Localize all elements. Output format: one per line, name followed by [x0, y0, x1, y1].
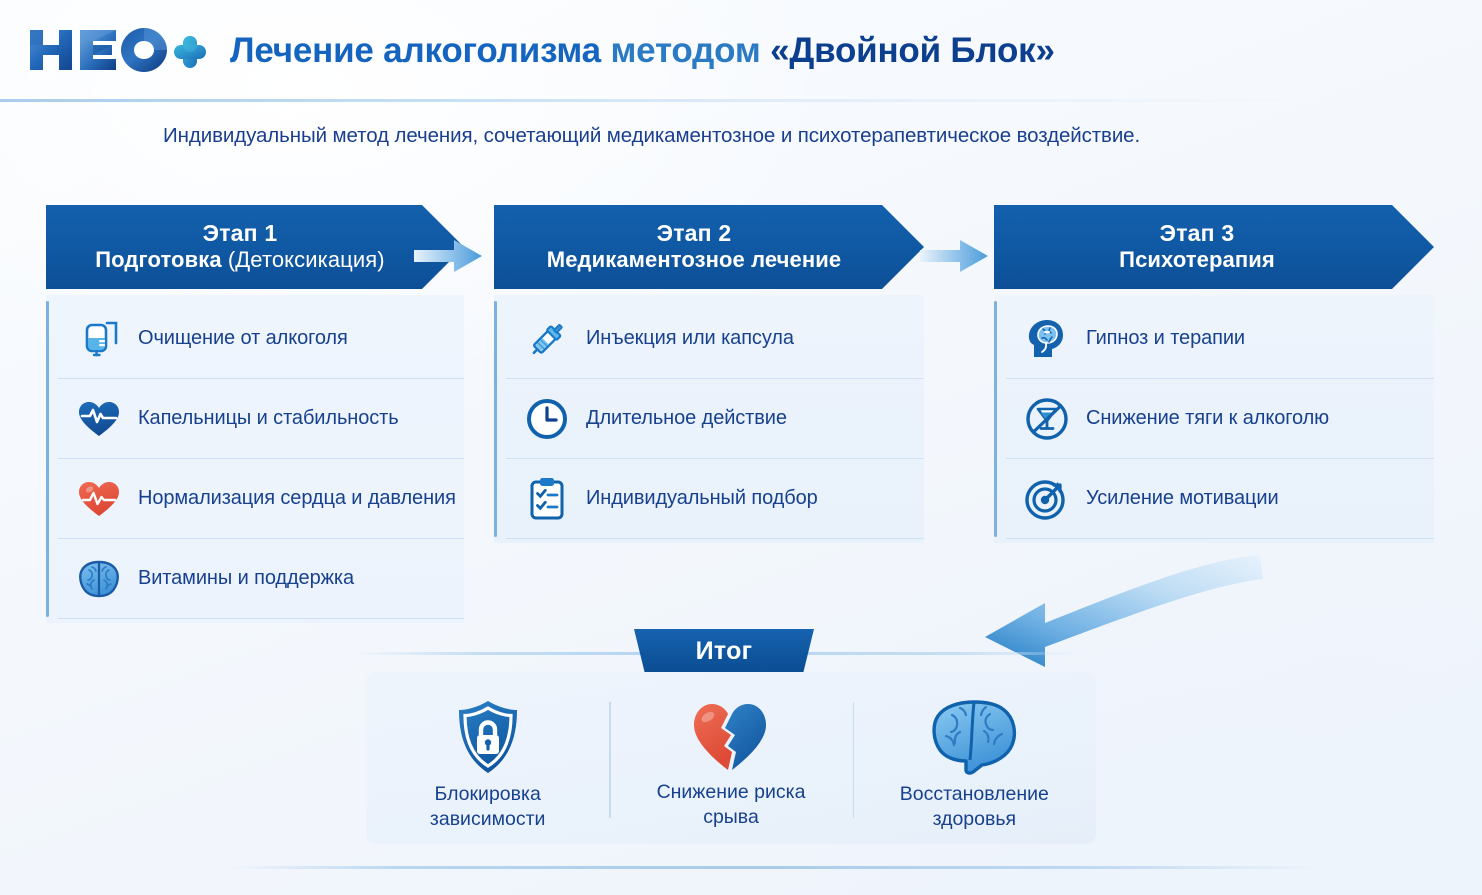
brain-icon — [76, 556, 122, 602]
arrow-right-icon — [920, 234, 992, 278]
stage-items-2: Инъекция или капсула Длительное действие — [494, 295, 924, 543]
list-item-label: Очищение от алкоголя — [138, 327, 348, 350]
list-item[interactable]: Усиление мотивации — [1006, 459, 1434, 539]
result-column-2[interactable]: Снижение риска срыва — [609, 694, 852, 822]
brain-recovery-icon — [924, 698, 1024, 776]
curved-arrow-left-icon — [975, 545, 1265, 675]
list-item[interactable]: Капельницы и стабильность — [58, 379, 464, 459]
list-item-label: Капельницы и стабильность — [138, 407, 399, 430]
list-item[interactable]: Индивидуальный подбор — [506, 459, 924, 539]
stage-card-3: Этап 3 Психотерапия — [994, 205, 1434, 543]
stage-header-2: Этап 2 Медикаментозное лечение — [494, 205, 924, 289]
list-item-label: Снижение тяги к алкоголю — [1086, 407, 1329, 430]
clipboard-checklist-icon — [524, 476, 570, 522]
stage-label-2: Этап 2 — [657, 221, 732, 247]
heart-pulse-red-icon — [76, 476, 122, 522]
result-label-2: Снижение риска срыва — [657, 780, 806, 830]
shield-lock-icon — [451, 698, 525, 776]
stage-name-1: Подготовка (Детоксикация) — [95, 247, 384, 273]
footer-divider — [228, 866, 1318, 869]
result-label-3: Восстановление здоровья — [900, 782, 1049, 832]
stage-name-bold-2: Медикаментозное лечение — [547, 247, 841, 272]
stage-items-3: Гипноз и терапии Снижение тяги к — [994, 295, 1434, 543]
list-item[interactable]: Инъекция или капсула — [506, 299, 924, 379]
list-item[interactable]: Витамины и поддержка — [58, 539, 464, 619]
stage-name-bold-3: Психотерапия — [1119, 247, 1275, 272]
stage-name-bold-1: Подготовка — [95, 247, 221, 272]
arrow-right-icon — [414, 234, 486, 278]
list-item[interactable]: Очищение от алкоголя — [58, 299, 464, 379]
stage-name-3: Психотерапия — [1119, 247, 1275, 273]
stage-header-3: Этап 3 Психотерапия — [994, 205, 1434, 289]
list-item[interactable]: Снижение тяги к алкоголю — [1006, 379, 1434, 459]
stage-label-1: Этап 1 — [203, 221, 278, 247]
list-item[interactable]: Нормализация сердца и давления — [58, 459, 464, 539]
broken-heart-icon — [688, 698, 774, 774]
target-arrow-icon — [1024, 476, 1070, 522]
list-item-label: Длительное действие — [586, 407, 787, 430]
clock-icon — [524, 396, 570, 442]
list-item-label: Индивидуальный подбор — [586, 487, 818, 510]
no-alcohol-glass-icon — [1024, 396, 1070, 442]
stage-items-1: Очищение от алкоголя Капельницы и стабил… — [46, 295, 464, 623]
result-label-1: Блокировка зависимости — [430, 782, 546, 832]
stage-name-light-1: (Детоксикация) — [228, 247, 385, 272]
stage-card-2: Этап 2 Медикаментозное лечение — [494, 205, 924, 543]
result-banner: Итог — [634, 629, 814, 673]
heart-pulse-blue-icon — [76, 396, 122, 442]
head-brain-icon — [1024, 316, 1070, 362]
result-card: Блокировка зависимости — [366, 672, 1096, 844]
list-item-label: Гипноз и терапии — [1086, 327, 1245, 350]
stage-header-1: Этап 1 Подготовка (Детоксикация) — [46, 205, 464, 289]
result-column-1[interactable]: Блокировка зависимости — [366, 694, 609, 822]
list-item[interactable]: Длительное действие — [506, 379, 924, 459]
list-item-label: Усиление мотивации — [1086, 487, 1279, 510]
stage-name-2: Медикаментозное лечение — [547, 247, 841, 273]
list-item[interactable]: Гипноз и терапии — [1006, 299, 1434, 379]
list-item-label: Витамины и поддержка — [138, 567, 354, 590]
stage-label-3: Этап 3 — [1160, 221, 1235, 247]
infographic-page: Лечение алкоголизма методом «Двойной Бло… — [0, 0, 1482, 895]
syringe-icon — [524, 316, 570, 362]
iv-drip-icon — [76, 316, 122, 362]
result-column-3[interactable]: Восстановление здоровья — [853, 694, 1096, 822]
list-item-label: Нормализация сердца и давления — [138, 487, 456, 510]
list-item-label: Инъекция или капсула — [586, 327, 794, 350]
stage-card-1: Этап 1 Подготовка (Детоксикация) — [46, 205, 464, 623]
